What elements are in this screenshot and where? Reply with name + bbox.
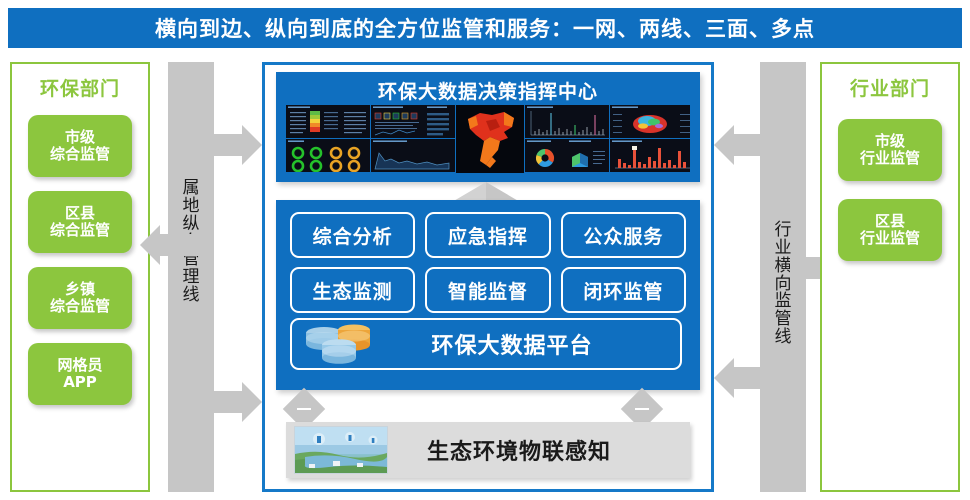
database-stack-icon xyxy=(298,321,384,367)
function-button-public-service[interactable]: 公众服务 xyxy=(561,212,686,258)
right-item-line2: 行业监管 xyxy=(860,230,920,247)
left-item-grid-officer-app[interactable]: 网格员 APP xyxy=(28,343,132,405)
iot-sensing-label: 生态环境物联感知 xyxy=(388,434,690,466)
diamond-left-mark xyxy=(297,408,311,410)
function-button-emergency-command[interactable]: 应急指挥 xyxy=(425,212,550,258)
flow-arrow-right-bottom xyxy=(200,382,262,422)
industry-department-panel: 行业部门 市级 行业监管 区县 行业监管 xyxy=(820,62,960,492)
left-item-line1: 区县 xyxy=(65,205,95,222)
environmental-department-panel: 环保部门 市级 综合监管 区县 综合监管 乡镇 综合监管 网格员 APP xyxy=(10,62,150,492)
command-center-title: 环保大数据决策指挥中心 xyxy=(276,72,700,104)
right-panel-title: 行业部门 xyxy=(822,74,958,101)
left-item-line2: APP xyxy=(63,374,97,391)
function-button-smart-supervision[interactable]: 智能监督 xyxy=(425,267,550,313)
left-item-line1: 乡镇 xyxy=(65,281,95,298)
left-item-line2: 综合监管 xyxy=(50,298,110,315)
diamond-right-mark xyxy=(635,408,649,410)
banner-title: 横向到边、纵向到底的全方位监管和服务：一网、两线、三面、多点 xyxy=(155,13,815,43)
left-item-line2: 综合监管 xyxy=(50,146,110,163)
dashboard-screen-image xyxy=(286,105,690,173)
right-item-line1: 区县 xyxy=(875,213,905,230)
iot-scene-image xyxy=(294,426,388,474)
command-center-block: 环保大数据决策指挥中心 xyxy=(276,72,700,182)
flow-arrow-left-top xyxy=(714,125,776,165)
function-button-comprehensive-analysis[interactable]: 综合分析 xyxy=(290,212,415,258)
function-button-ecological-monitoring[interactable]: 生态监测 xyxy=(290,267,415,313)
left-item-line1: 市级 xyxy=(65,129,95,146)
left-item-line1: 网格员 xyxy=(57,357,102,374)
page-banner: 横向到边、纵向到底的全方位监管和服务：一网、两线、三面、多点 xyxy=(8,8,962,48)
right-item-line2: 行业监管 xyxy=(860,150,920,167)
big-data-platform-bar[interactable]: 环保大数据平台 xyxy=(290,318,682,370)
function-modules-block: 综合分析 应急指挥 公众服务 生态监测 智能监督 闭环监管 xyxy=(276,200,700,390)
left-item-district-comprehensive[interactable]: 区县 综合监管 xyxy=(28,191,132,253)
left-item-city-comprehensive[interactable]: 市级 综合监管 xyxy=(28,115,132,177)
big-data-platform-label: 环保大数据平台 xyxy=(384,328,680,360)
flow-arrow-left-bottom xyxy=(714,358,776,398)
right-item-city-industry[interactable]: 市级 行业监管 xyxy=(838,119,942,181)
left-panel-title: 环保部门 xyxy=(12,74,148,101)
iot-sensing-bar[interactable]: 生态环境物联感知 xyxy=(286,422,690,478)
left-item-line2: 综合监管 xyxy=(50,222,110,239)
function-button-closed-loop-supervision[interactable]: 闭环监管 xyxy=(561,267,686,313)
right-item-district-industry[interactable]: 区县 行业监管 xyxy=(838,199,942,261)
flow-arrow-left-middle xyxy=(140,225,202,265)
function-buttons-grid: 综合分析 应急指挥 公众服务 生态监测 智能监督 闭环监管 xyxy=(290,212,686,313)
right-item-line1: 市级 xyxy=(875,133,905,150)
flow-arrow-right-top xyxy=(200,125,262,165)
left-item-township-comprehensive[interactable]: 乡镇 综合监管 xyxy=(28,267,132,329)
